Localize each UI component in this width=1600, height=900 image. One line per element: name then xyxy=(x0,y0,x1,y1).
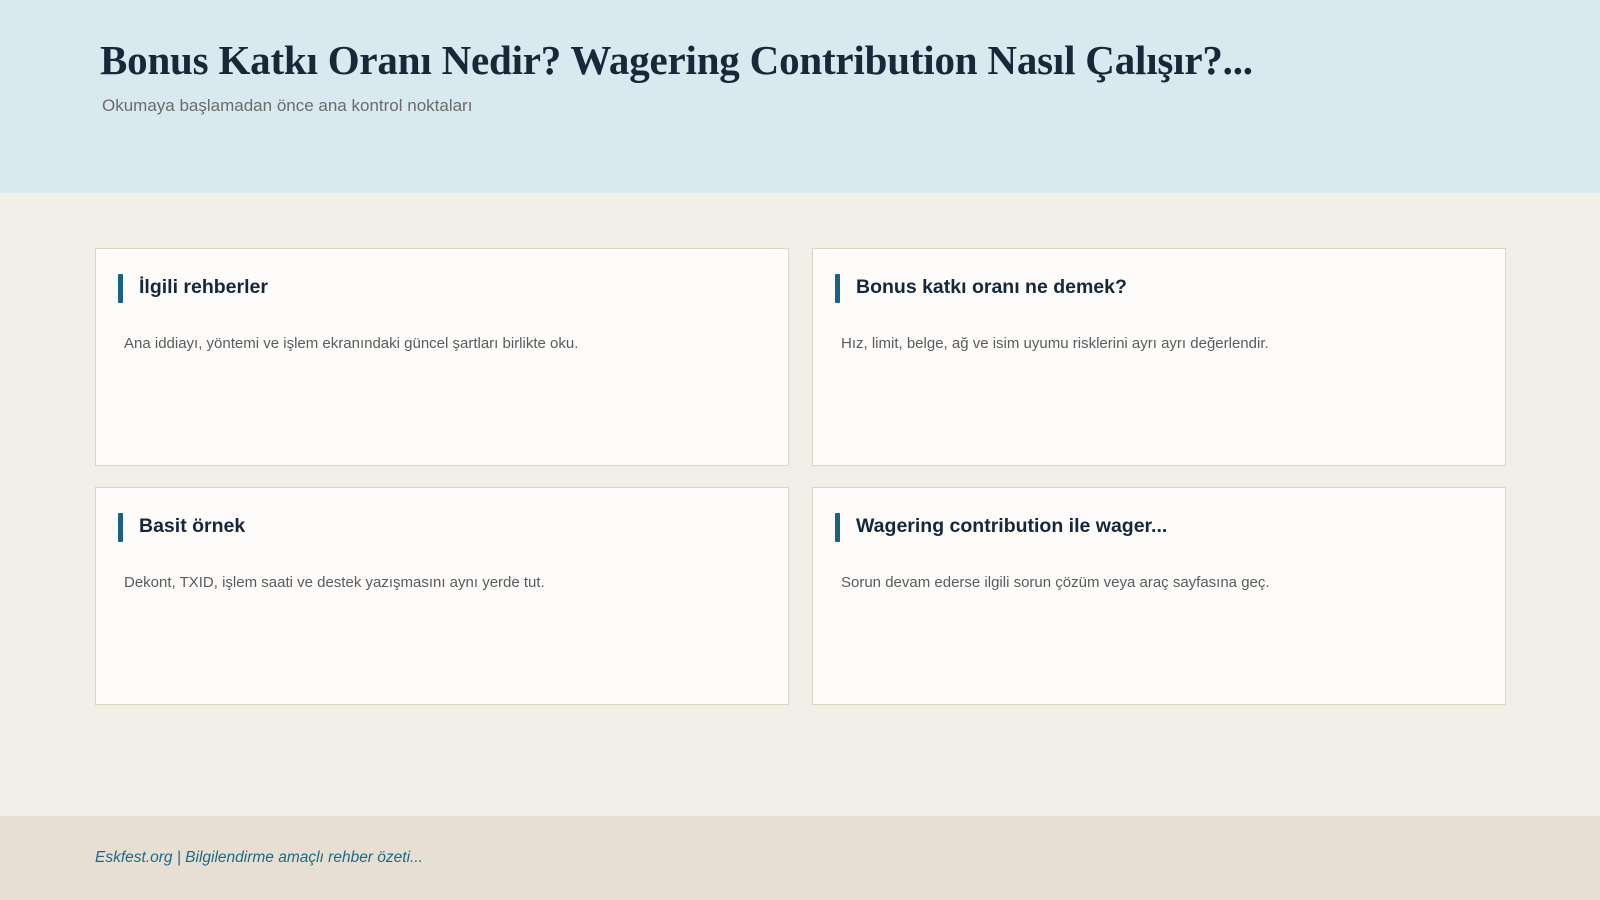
card-heading: Wagering contribution ile wager... xyxy=(856,515,1167,538)
card-body-text: Sorun devam ederse ilgili sorun çözüm ve… xyxy=(841,572,1480,594)
card-body-text: Ana iddiayı, yöntemi ve işlem ekranındak… xyxy=(124,333,763,355)
main-content: İlgili rehberler Ana iddiayı, yöntemi ve… xyxy=(0,193,1600,816)
card-body-text: Hız, limit, belge, ağ ve isim uyumu risk… xyxy=(841,333,1480,355)
page-header: Bonus Katkı Oranı Nedir? Wagering Contri… xyxy=(0,0,1600,193)
page-title: Bonus Katkı Oranı Nedir? Wagering Contri… xyxy=(100,38,1330,82)
card-body-text: Dekont, TXID, işlem saati ve destek yazı… xyxy=(124,572,763,594)
page-subtitle: Okumaya başlamadan önce ana kontrol nokt… xyxy=(102,95,1500,117)
info-card-2[interactable]: Bonus katkı oranı ne demek? Hız, limit, … xyxy=(812,248,1506,466)
card-grid: İlgili rehberler Ana iddiayı, yöntemi ve… xyxy=(95,248,1506,705)
card-heading: Bonus katkı oranı ne demek? xyxy=(856,276,1127,299)
card-heading-row: Wagering contribution ile wager... xyxy=(835,510,1480,544)
page-footer: Eskfest.org | Bilgilendirme amaçlı rehbe… xyxy=(0,816,1600,900)
info-card-3[interactable]: Basit örnek Dekont, TXID, işlem saati ve… xyxy=(95,487,789,705)
card-heading: İlgili rehberler xyxy=(139,276,268,299)
info-card-4[interactable]: Wagering contribution ile wager... Sorun… xyxy=(812,487,1506,705)
card-heading-row: Basit örnek xyxy=(118,510,763,544)
accent-bar-icon xyxy=(118,513,123,542)
info-card-1[interactable]: İlgili rehberler Ana iddiayı, yöntemi ve… xyxy=(95,248,789,466)
card-heading-row: İlgili rehberler xyxy=(118,271,763,305)
card-heading: Basit örnek xyxy=(139,515,245,538)
accent-bar-icon xyxy=(835,513,840,542)
page-root: Bonus Katkı Oranı Nedir? Wagering Contri… xyxy=(0,0,1600,900)
accent-bar-icon xyxy=(835,274,840,303)
footer-attribution: Eskfest.org | Bilgilendirme amaçlı rehbe… xyxy=(95,848,423,868)
accent-bar-icon xyxy=(118,274,123,303)
card-heading-row: Bonus katkı oranı ne demek? xyxy=(835,271,1480,305)
